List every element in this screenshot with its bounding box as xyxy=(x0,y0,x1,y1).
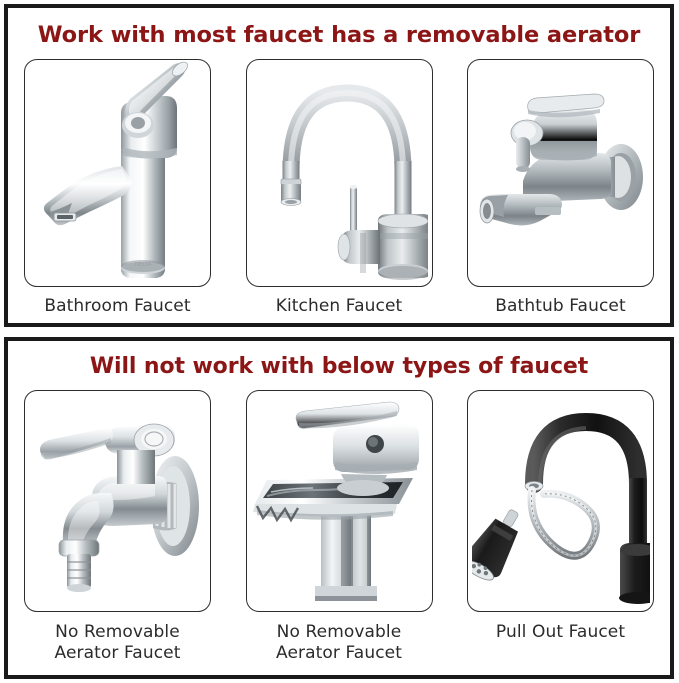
card-pull-out-faucet[interactable]: Pull Out Faucet xyxy=(467,390,654,663)
pull-out-card-frame xyxy=(467,390,654,612)
bathtub-faucet-image xyxy=(471,61,651,285)
bathroom-faucet-image: DELTA xyxy=(26,61,209,285)
waterfall-faucet-image xyxy=(249,392,429,610)
bathroom-faucet-card-frame: DELTA xyxy=(24,59,211,287)
card-kitchen-faucet[interactable]: Kitchen Faucet xyxy=(246,59,433,317)
incompatible-section-heading: Will not work with below types of faucet xyxy=(8,356,670,378)
bathtub-faucet-caption: Bathtub Faucet xyxy=(495,296,625,317)
bibcock-tap-image xyxy=(27,392,209,610)
kitchen-faucet-image xyxy=(250,61,428,285)
incompatible-card-row: No Removable Aerator Faucet xyxy=(8,390,670,663)
compatible-section: Work with most faucet has a removable ae… xyxy=(4,4,674,327)
card-bathroom-faucet[interactable]: DELTA xyxy=(24,59,211,317)
bathtub-faucet-card-frame xyxy=(467,59,654,287)
faucet-compatibility-infographic: Work with most faucet has a removable ae… xyxy=(0,0,679,683)
compatible-card-row: DELTA xyxy=(8,59,670,317)
bathroom-faucet-caption: Bathroom Faucet xyxy=(44,296,190,317)
bibcock-card-frame xyxy=(24,390,211,612)
svg-text:DELTA: DELTA xyxy=(135,262,152,268)
no-removable-aerator-caption-1: No Removable Aerator Faucet xyxy=(55,622,181,663)
kitchen-faucet-caption: Kitchen Faucet xyxy=(276,296,403,317)
pull-out-faucet-caption: Pull Out Faucet xyxy=(496,622,625,643)
kitchen-faucet-card-frame xyxy=(246,59,433,287)
incompatible-section: Will not work with below types of faucet xyxy=(4,337,674,679)
card-bathtub-faucet[interactable]: Bathtub Faucet xyxy=(467,59,654,317)
pull-out-faucet-image xyxy=(472,392,650,610)
card-no-removable-aerator-1[interactable]: No Removable Aerator Faucet xyxy=(24,390,211,663)
no-removable-aerator-caption-2: No Removable Aerator Faucet xyxy=(276,622,402,663)
waterfall-card-frame xyxy=(246,390,433,612)
card-no-removable-aerator-2[interactable]: No Removable Aerator Faucet xyxy=(246,390,433,663)
compatible-section-heading: Work with most faucet has a removable ae… xyxy=(8,24,670,47)
